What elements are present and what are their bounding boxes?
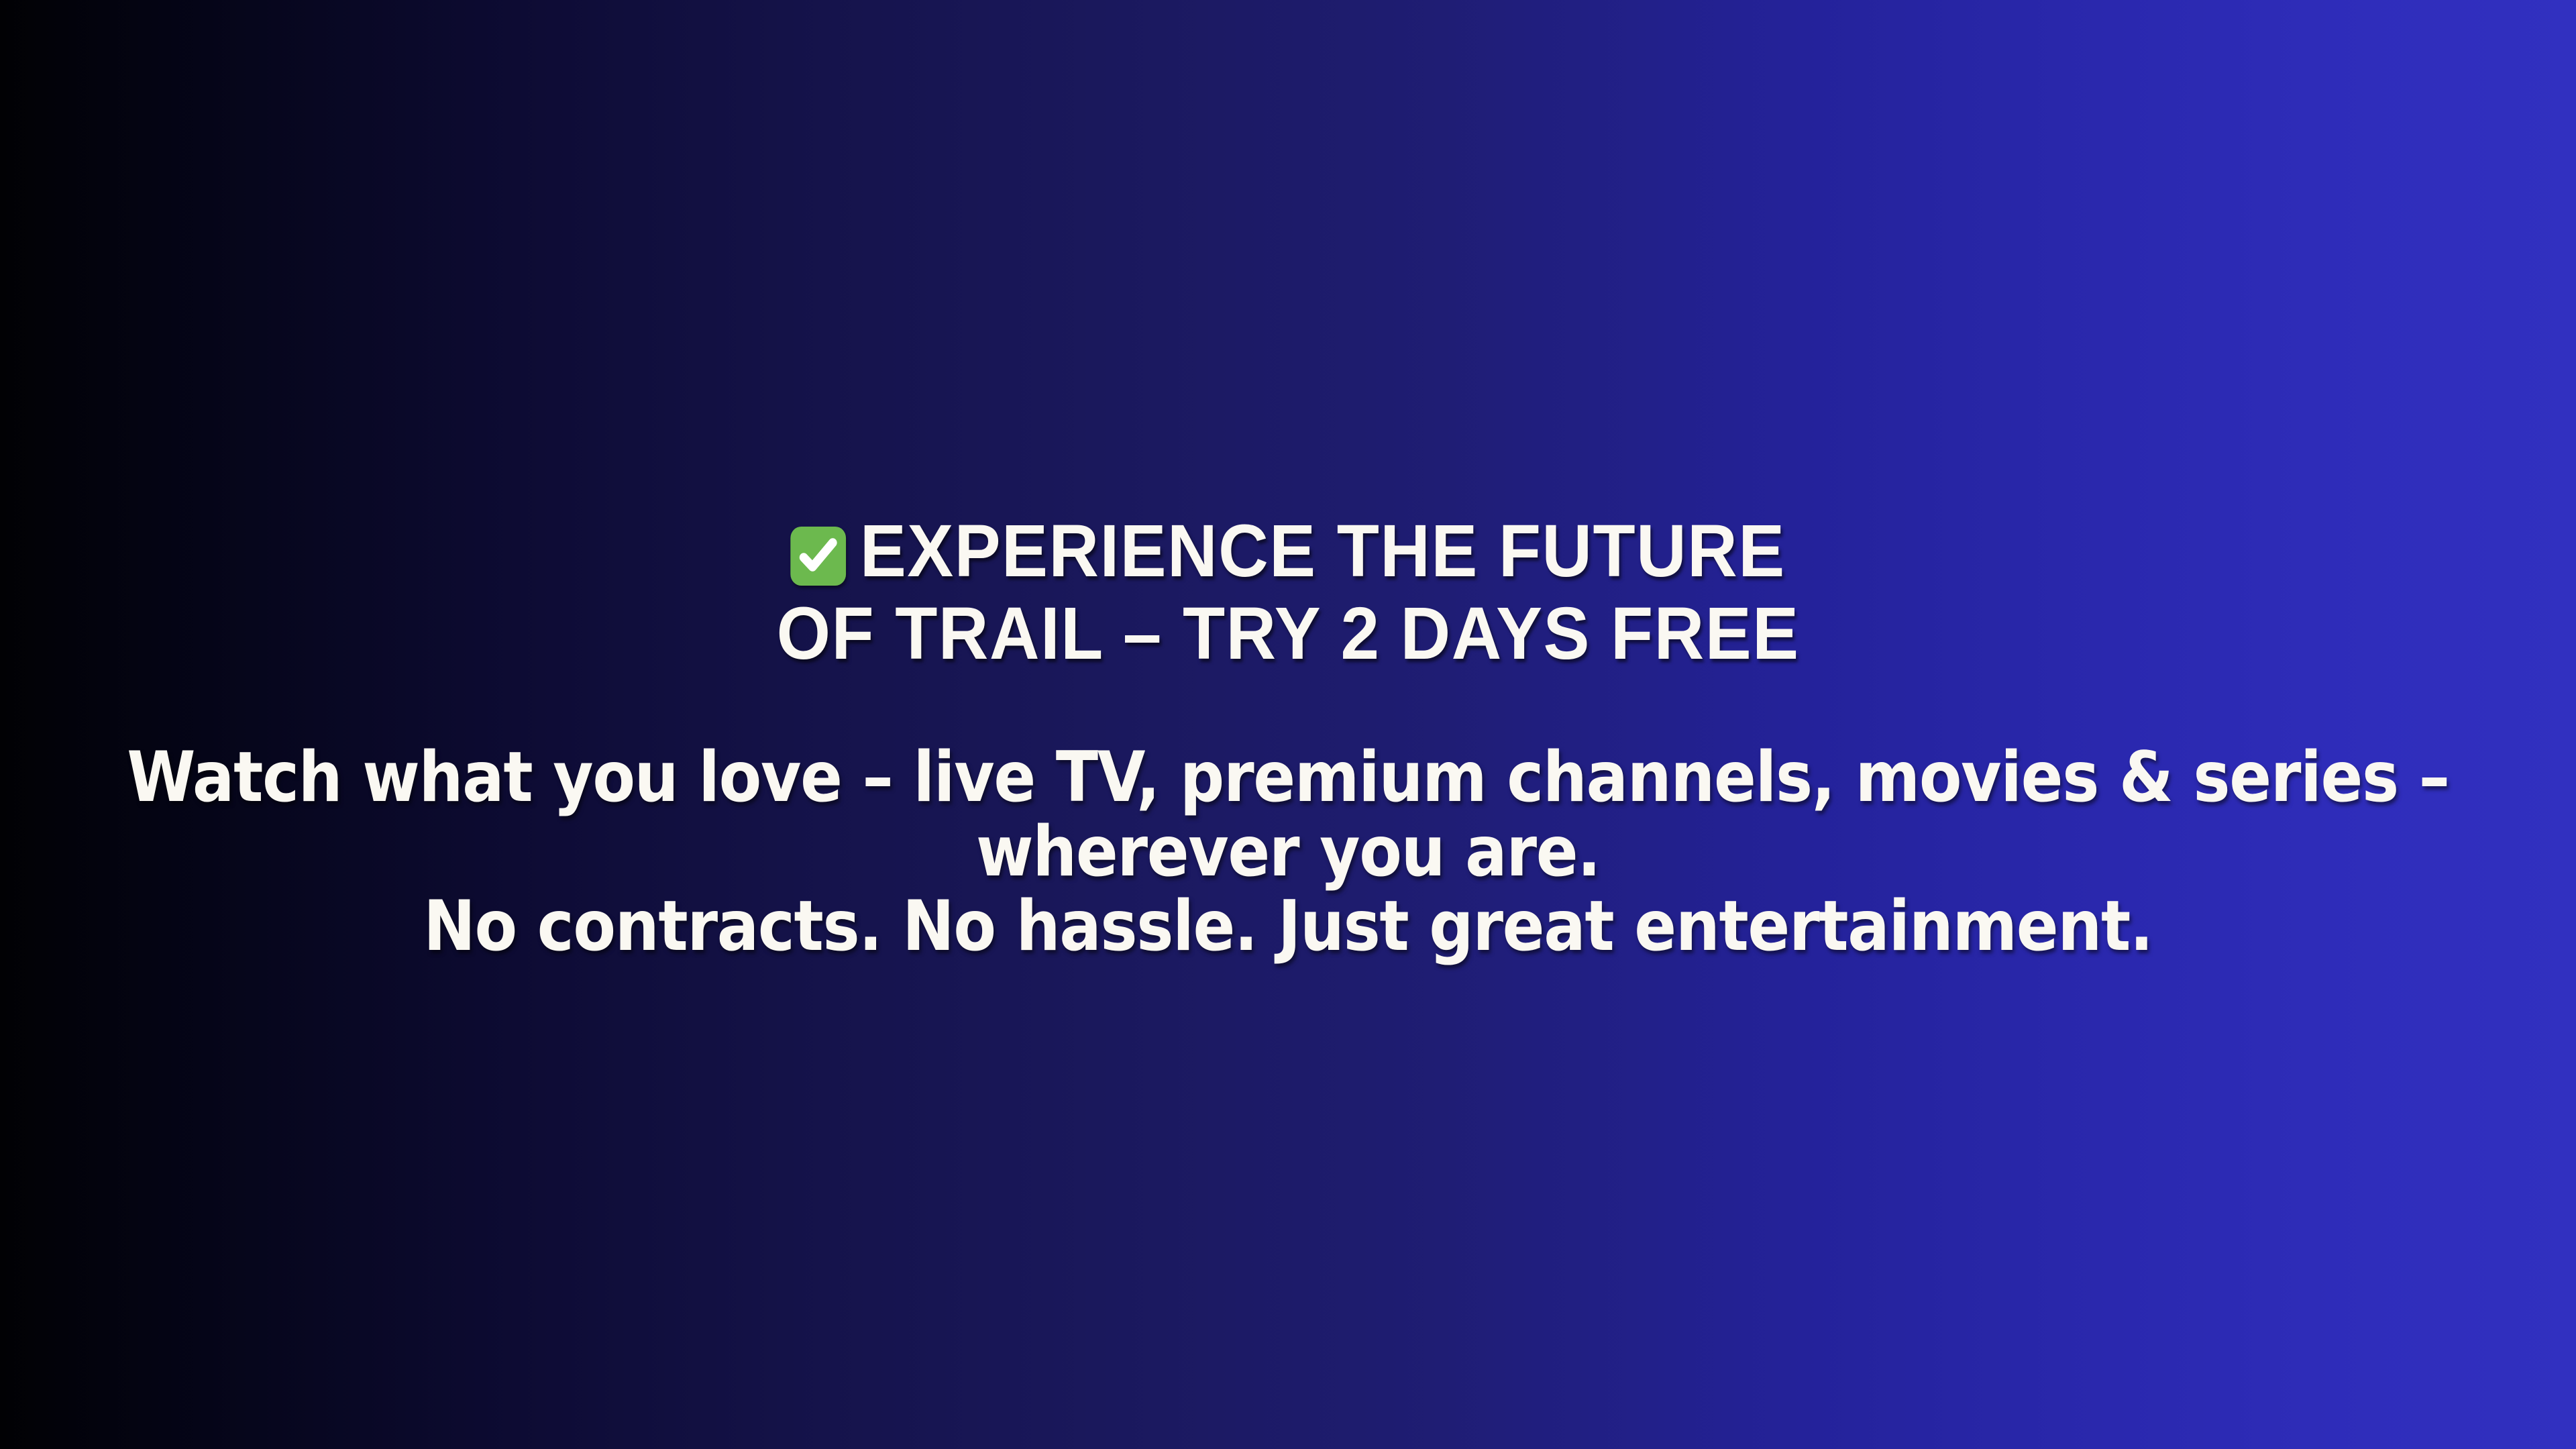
body-line-1: Watch what you love – live TV, premium c… bbox=[127, 741, 2449, 815]
headline-line-1: EXPERIENCE THE FUTURE bbox=[777, 510, 1800, 592]
white-heavy-check-mark-icon bbox=[790, 527, 846, 586]
headline-line-2: OF TRAIL – TRY 2 DAYS FREE bbox=[777, 592, 1800, 675]
headline-line-1-text: EXPERIENCE THE FUTURE bbox=[860, 510, 1786, 592]
body-line-2: wherever you are. bbox=[127, 815, 2449, 890]
promo-banner: EXPERIENCE THE FUTURE OF TRAIL – TRY 2 D… bbox=[0, 0, 2576, 1449]
body-copy: Watch what you love – live TV, premium c… bbox=[127, 741, 2449, 964]
body-line-3: No contracts. No hassle. Just great ente… bbox=[127, 890, 2449, 964]
promo-content: EXPERIENCE THE FUTURE OF TRAIL – TRY 2 D… bbox=[0, 510, 2576, 964]
headline: EXPERIENCE THE FUTURE OF TRAIL – TRY 2 D… bbox=[777, 510, 1800, 675]
